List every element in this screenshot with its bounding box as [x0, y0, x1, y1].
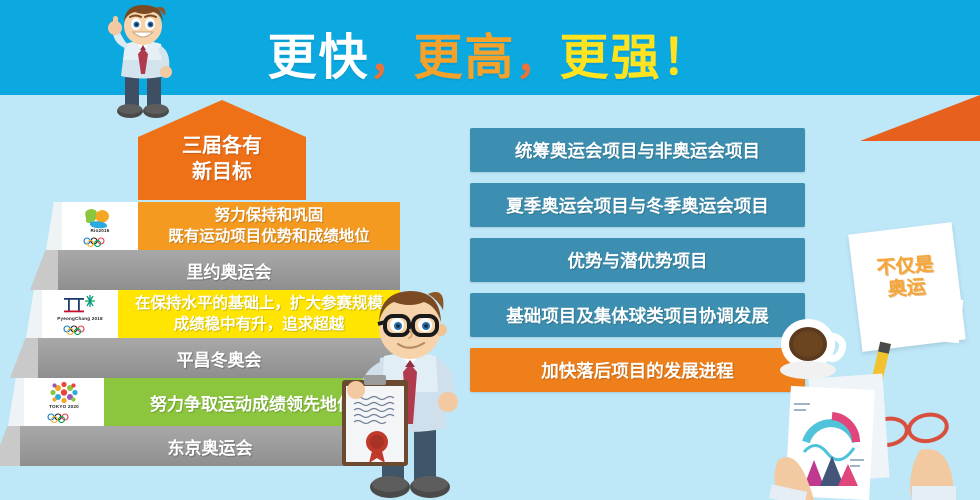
list-item[interactable]: 夏季奥运会项目与冬季奥运会项目 [470, 183, 805, 227]
tier-message-line-1: 努力争取运动成绩领先地位 [150, 390, 354, 415]
tier-logo-plate: Rio2016 [62, 202, 138, 250]
pyramid-header-line-2: 新目标 [138, 159, 306, 185]
pyeongchang-2018-caption: PyeongChang 2018 [45, 316, 115, 321]
tier-step-label: 平昌冬奥会 [177, 346, 262, 371]
list-item-label: 基础项目及集体球类项目协调发展 [506, 303, 769, 328]
headline-part-2: 更高 [413, 31, 515, 85]
pyeongchang-2018-logo: PyeongChang 2018 [45, 292, 115, 336]
headline-part-1: 更快 [267, 31, 369, 85]
focus-areas-list: 统筹奥运会项目与非奥运会项目 夏季奥运会项目与冬季奥运会项目 优势与潜优势项目 … [470, 128, 805, 403]
list-item[interactable]: 统筹奥运会项目与非奥运会项目 [470, 128, 805, 172]
list-item-label: 夏季奥运会项目与冬季奥运会项目 [506, 193, 769, 218]
list-item-label: 优势与潜优势项目 [568, 248, 708, 273]
tier-step-label: 东京奥运会 [168, 434, 253, 459]
tier-logo-plate: TOKYO 2020 [24, 378, 104, 426]
olympic-rings-icon [60, 325, 100, 335]
olympic-rings-icon [44, 413, 84, 423]
orange-corner-wedge [860, 95, 980, 141]
rio-2016-logo: Rio2016 [65, 204, 135, 248]
headline-comma-1: ， [369, 36, 413, 83]
tokyo-2020-logo: TOKYO 2020 [29, 380, 99, 424]
tier-message-line-1: 努力保持和巩固 [168, 205, 370, 226]
list-item-label: 加快落后项目的发展进程 [541, 358, 734, 383]
coffee-cup-icon [780, 319, 843, 379]
infographic-poster: 更快，更高，更强！ [0, 0, 980, 500]
list-item[interactable]: 基础项目及集体球类项目协调发展 [470, 293, 805, 337]
tier-message-band: 努力保持和巩固 既有运动项目优势和成绩地位 [138, 202, 400, 250]
pyramid-header-text: 三届各有 新目标 [138, 133, 306, 185]
tier-tread-left-bevel [10, 338, 38, 378]
headline-part-3: 更强！ [560, 31, 713, 85]
desk-scene-illustration [760, 300, 980, 500]
list-item[interactable]: 优势与潜优势项目 [470, 238, 805, 282]
list-item-label: 统筹奥运会项目与非奥运会项目 [515, 138, 760, 163]
businessman-with-clipboard-illustration [340, 272, 480, 500]
rio-2016-caption: Rio2016 [65, 228, 135, 233]
tier-step-label: 里约奥运会 [187, 258, 272, 283]
tier-logo-plate: PyeongChang 2018 [42, 290, 118, 338]
tier-message-line-2: 既有运动项目优势和成绩地位 [168, 226, 370, 247]
pyramid-header-arrow: 三届各有 新目标 [138, 100, 306, 200]
pyramid-header-line-1: 三届各有 [138, 133, 306, 159]
headline-comma-2: ， [516, 36, 560, 83]
list-item-highlighted[interactable]: 加快落后项目的发展进程 [470, 348, 805, 392]
tier-tread-left-bevel [0, 426, 20, 466]
tokyo-2020-caption: TOKYO 2020 [29, 404, 99, 409]
sticky-note-text: 不仅是 奥运 [852, 252, 959, 303]
tier-tread-left-bevel [30, 250, 58, 290]
olympic-rings-icon [80, 237, 120, 247]
